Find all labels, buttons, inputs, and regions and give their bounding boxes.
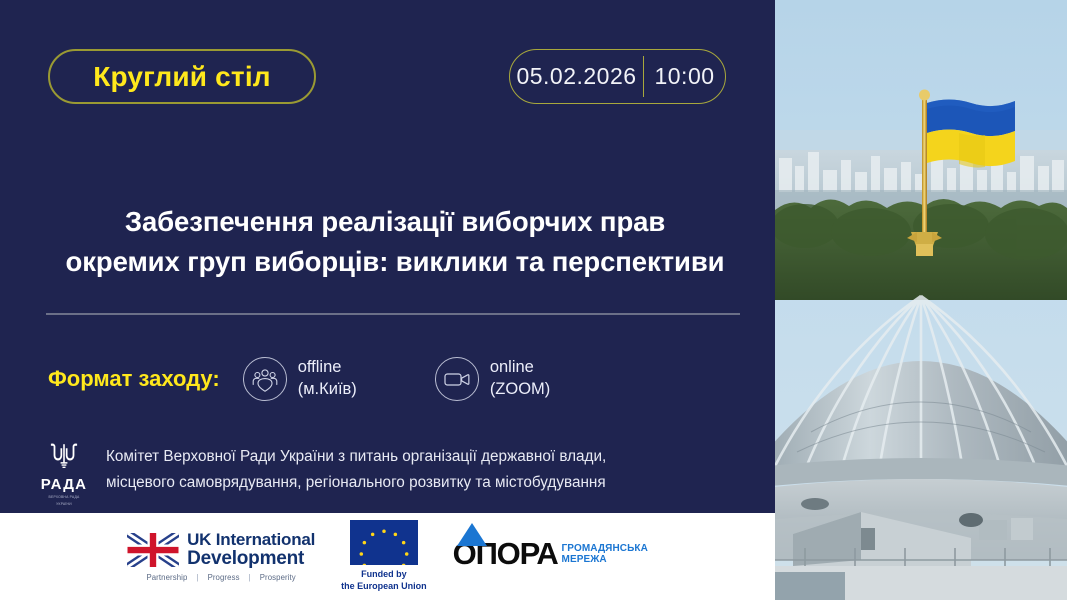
organizer-name: Комітет Верховної Ради України з питань … (106, 440, 606, 497)
uk-tagline-2: Progress (208, 573, 240, 582)
uk-tagline-separator-1: | (196, 573, 198, 582)
union-jack-flag-icon (127, 533, 179, 567)
event-title-line-1: Забезпечення реалізації виборчих прав (45, 202, 745, 242)
opora-subtitle-line-2: МЕРЕЖА (562, 554, 648, 565)
rada-wordmark: РАДА (41, 476, 87, 493)
organizer-name-line-1: Комітет Верховної Ради України з питань … (106, 444, 606, 470)
format-option-offline: offline (м.Київ) (243, 357, 357, 401)
event-time: 10:00 (644, 50, 725, 103)
rada-sub-line-1: ВЕРХОВНА РАДА (49, 495, 80, 500)
datetime-badge: 05.02.2026 10:00 (509, 49, 726, 104)
opora-logo: ОПОРА ГРОМАДЯНСЬКА МЕРЕЖА (453, 540, 648, 568)
event-date: 05.02.2026 (510, 50, 643, 103)
european-union-logo: Funded by the European Union (341, 520, 427, 592)
uk-logo-wordmark: UK International Development (187, 531, 315, 568)
event-title-line-2: окремих груп виборців: виклики та перспе… (45, 242, 745, 282)
uk-tagline-separator-2: | (249, 573, 251, 582)
format-option-online: online (ZOOM) (435, 357, 550, 401)
rada-sub-line-2: УКРАЇНИ (56, 502, 72, 507)
format-option-online-text: online (ZOOM) (490, 357, 550, 401)
eu-flag-icon (350, 520, 418, 565)
uk-logo-line-2: Development (187, 549, 315, 568)
opora-subtitle-line-1: ГРОМАДЯНСЬКА (562, 543, 648, 554)
event-format-section: Формат заходу: offline (м.Київ) (48, 348, 748, 410)
uk-logo-top-row: UK International Development (127, 531, 315, 568)
section-divider (46, 313, 740, 315)
opora-wordmark: ОПОРА (453, 540, 558, 568)
event-announcement-poster: Круглий стіл 05.02.2026 10:00 Забезпечен… (0, 0, 1067, 600)
uk-logo-line-1: UK International (187, 531, 315, 548)
event-format-label: Формат заходу: (48, 366, 220, 392)
uk-logo-tagline: Partnership | Progress | Prosperity (146, 573, 295, 582)
format-offline-line-1: offline (298, 357, 357, 379)
format-offline-line-2: (м.Київ) (298, 379, 357, 401)
organizer-name-line-2: місцевого самоврядування, регіонального … (106, 470, 606, 496)
format-option-offline-text: offline (м.Київ) (298, 357, 357, 401)
video-camera-icon (435, 357, 479, 401)
event-type-badge: Круглий стіл (48, 49, 316, 104)
eu-logo-caption: Funded by the European Union (341, 569, 427, 592)
format-online-line-1: online (490, 357, 550, 379)
uk-tagline-3: Prosperity (260, 573, 296, 582)
format-online-line-2: (ZOOM) (490, 379, 550, 401)
opora-subtitle: ГРОМАДЯНСЬКА МЕРЕЖА (562, 543, 648, 565)
uk-international-development-logo: UK International Development Partnership… (127, 531, 315, 582)
event-type-label: Круглий стіл (93, 61, 271, 93)
organizer-block: РАДА ВЕРХОВНА РАДА УКРАЇНИ Комітет Верхо… (34, 440, 606, 507)
people-group-icon (243, 357, 287, 401)
event-title: Забезпечення реалізації виборчих прав ок… (45, 202, 745, 281)
partner-logos-bar: UK International Development Partnership… (0, 513, 775, 600)
eu-caption-line-1: Funded by (341, 569, 427, 581)
content-column: Круглий стіл 05.02.2026 10:00 Забезпечен… (0, 0, 775, 513)
rada-logo: РАДА ВЕРХОВНА РАДА УКРАЇНИ (34, 440, 94, 507)
verkhovna-rada-dome-photo (775, 0, 1067, 600)
eu-caption-line-2: the European Union (341, 581, 427, 593)
ukraine-trident-icon (49, 442, 79, 475)
uk-tagline-1: Partnership (146, 573, 187, 582)
opora-triangle-icon (457, 523, 487, 546)
